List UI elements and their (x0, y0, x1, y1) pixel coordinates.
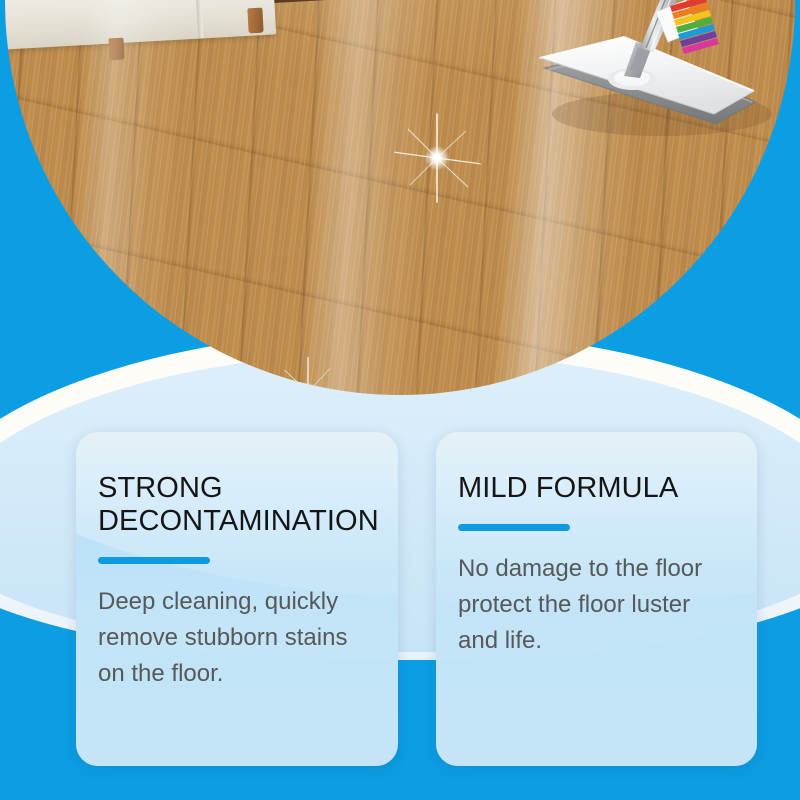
feature-banner: STRONG DECONTAMINATION Deep cleaning, qu… (0, 0, 800, 800)
feature-card-list: STRONG DECONTAMINATION Deep cleaning, qu… (0, 0, 800, 800)
card-title: STRONG DECONTAMINATION (98, 472, 376, 538)
card-title: MILD FORMULA (458, 472, 735, 505)
card-description: Deep cleaning, quickly remove stubborn s… (98, 584, 376, 692)
card-accent-bar (458, 524, 570, 531)
feature-card-mild-formula[interactable]: MILD FORMULA No damage to the floor prot… (436, 432, 757, 766)
feature-card-strong-decontamination[interactable]: STRONG DECONTAMINATION Deep cleaning, qu… (76, 432, 398, 766)
card-accent-bar (98, 557, 210, 564)
card-description: No damage to the floor protect the floor… (458, 551, 735, 659)
